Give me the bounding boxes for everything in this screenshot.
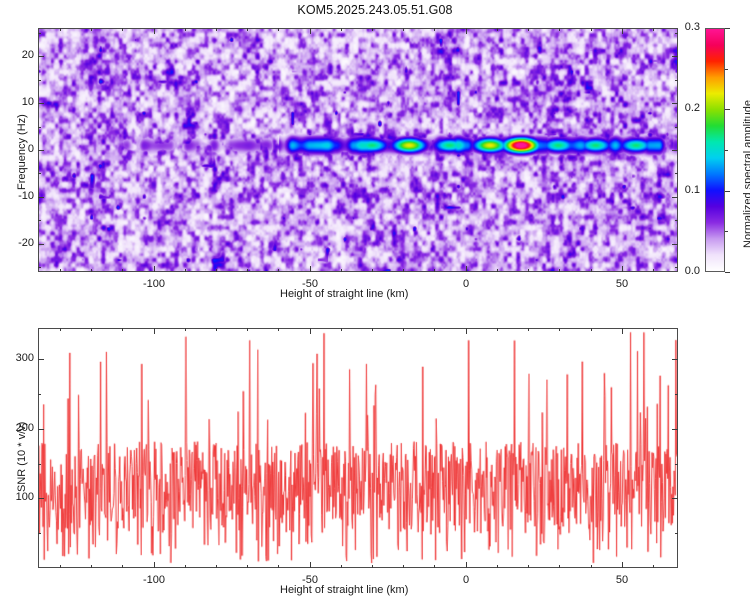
axis-tick: [403, 565, 404, 568]
axis-tick: [38, 359, 44, 360]
axis-tick: [38, 33, 41, 34]
axis-tick: [622, 266, 623, 272]
axis-tick: [154, 328, 155, 334]
axis-tick: [434, 328, 435, 331]
axis-tick: [559, 28, 560, 31]
spectrogram-y-axis-label: Frequency (Hz): [16, 114, 28, 190]
axis-tick: [622, 562, 623, 568]
axis-tick: [591, 565, 592, 568]
axis-tick: [122, 565, 123, 568]
axis-tick: [497, 565, 498, 568]
axis-tick: [38, 150, 44, 151]
axis-tick: [725, 109, 730, 110]
axis-tick: [341, 269, 342, 272]
axis-tick-label: 0.0: [685, 265, 700, 277]
axis-tick: [91, 269, 92, 272]
axis-tick: [528, 269, 529, 272]
snr-x-axis-label: Height of straight line (km): [280, 584, 408, 596]
axis-tick: [278, 269, 279, 272]
axis-tick: [247, 328, 248, 331]
axis-tick: [60, 328, 61, 331]
axis-tick: [675, 220, 678, 221]
snr-plot-area: [38, 328, 678, 568]
axis-tick: [247, 28, 248, 31]
axis-tick: [675, 33, 678, 34]
axis-tick: [310, 328, 311, 334]
axis-tick: [38, 220, 41, 221]
axis-tick: [403, 28, 404, 31]
axis-tick: [38, 197, 44, 198]
axis-tick: [278, 328, 279, 331]
axis-tick: [38, 173, 41, 174]
axis-tick: [185, 269, 186, 272]
axis-tick: [122, 28, 123, 31]
axis-tick: [185, 565, 186, 568]
axis-tick: [38, 498, 44, 499]
axis-tick: [38, 80, 41, 81]
axis-tick: [725, 69, 728, 70]
axis-tick: [725, 272, 730, 273]
axis-tick-label: 0.1: [685, 184, 700, 196]
axis-tick: [591, 328, 592, 331]
axis-tick: [38, 244, 44, 245]
axis-tick: [672, 56, 678, 57]
axis-tick: [310, 562, 311, 568]
axis-tick: [672, 150, 678, 151]
axis-tick-label: 0.2: [685, 102, 700, 114]
axis-tick: [341, 565, 342, 568]
axis-tick: [372, 269, 373, 272]
axis-tick: [653, 269, 654, 272]
axis-tick: [38, 533, 41, 534]
axis-tick: [403, 269, 404, 272]
axis-tick-label: 300: [16, 352, 34, 364]
axis-tick: [122, 269, 123, 272]
spectrogram-plot-area: [38, 28, 678, 272]
axis-tick: [38, 127, 41, 128]
colorbar-label: Normalized spectral amplitude: [742, 100, 750, 248]
axis-tick: [528, 28, 529, 31]
axis-tick: [672, 429, 678, 430]
axis-tick: [278, 565, 279, 568]
axis-tick-label: 50: [616, 574, 628, 586]
axis-tick: [91, 328, 92, 331]
axis-tick: [60, 565, 61, 568]
axis-tick: [559, 269, 560, 272]
axis-tick: [725, 28, 730, 29]
axis-tick: [653, 28, 654, 31]
axis-tick-label: 10: [22, 96, 34, 108]
axis-tick: [675, 464, 678, 465]
axis-tick: [122, 328, 123, 331]
axis-tick: [675, 127, 678, 128]
axis-tick: [559, 328, 560, 331]
axis-tick: [591, 28, 592, 31]
spectrogram-image: [39, 29, 677, 271]
axis-tick: [154, 28, 155, 34]
axis-tick: [38, 267, 41, 268]
spectrogram-x-axis-label: Height of straight line (km): [280, 288, 408, 300]
axis-tick: [372, 28, 373, 31]
axis-tick: [247, 565, 248, 568]
axis-tick: [278, 28, 279, 31]
axis-tick-label: -10: [18, 190, 34, 202]
axis-tick: [672, 244, 678, 245]
axis-tick: [528, 328, 529, 331]
axis-tick-label: 0: [463, 574, 469, 586]
axis-tick: [725, 231, 728, 232]
axis-tick: [591, 269, 592, 272]
axis-tick: [622, 28, 623, 34]
axis-tick: [38, 56, 44, 57]
axis-tick-label: 100: [16, 491, 34, 503]
axis-tick: [91, 565, 92, 568]
axis-tick: [154, 562, 155, 568]
axis-tick-label: 50: [616, 278, 628, 290]
axis-tick: [622, 328, 623, 334]
axis-tick-label: -20: [18, 237, 34, 249]
colorbar: [705, 28, 725, 272]
axis-tick: [372, 328, 373, 331]
axis-tick-label: 0: [463, 278, 469, 290]
axis-tick-label: 0: [28, 143, 34, 155]
axis-tick-label: -100: [143, 278, 165, 290]
axis-tick: [60, 269, 61, 272]
axis-tick: [216, 269, 217, 272]
axis-tick-label: 0.3: [685, 21, 700, 33]
axis-tick: [38, 464, 41, 465]
axis-tick: [341, 328, 342, 331]
axis-tick-label: 20: [22, 49, 34, 61]
page-title: KOM5.2025.243.05.51.G08: [0, 3, 750, 17]
axis-tick: [672, 498, 678, 499]
axis-tick: [497, 28, 498, 31]
axis-tick: [528, 565, 529, 568]
axis-tick: [434, 28, 435, 31]
axis-tick: [310, 266, 311, 272]
axis-tick: [247, 269, 248, 272]
snr-trace-line: [39, 329, 677, 567]
axis-tick: [372, 565, 373, 568]
axis-tick: [154, 266, 155, 272]
axis-tick: [653, 328, 654, 331]
axis-tick: [341, 28, 342, 31]
axis-tick: [38, 103, 44, 104]
axis-tick: [675, 173, 678, 174]
axis-tick: [466, 266, 467, 272]
axis-tick: [497, 269, 498, 272]
snr-y-axis-label: SNR (10 * v/v): [16, 422, 28, 492]
axis-tick: [466, 28, 467, 34]
axis-tick: [725, 191, 730, 192]
axis-tick: [60, 28, 61, 31]
axis-tick: [466, 328, 467, 334]
axis-tick: [216, 328, 217, 331]
axis-tick: [216, 565, 217, 568]
axis-tick: [185, 328, 186, 331]
axis-tick: [725, 150, 728, 151]
axis-tick: [91, 28, 92, 31]
axis-tick: [672, 197, 678, 198]
axis-tick: [675, 533, 678, 534]
axis-tick-label: -100: [143, 574, 165, 586]
axis-tick: [38, 429, 44, 430]
colorbar-gradient: [706, 29, 724, 271]
axis-tick: [675, 267, 678, 268]
axis-tick: [672, 359, 678, 360]
axis-tick: [434, 565, 435, 568]
axis-tick: [653, 565, 654, 568]
axis-tick: [310, 28, 311, 34]
axis-tick: [466, 562, 467, 568]
axis-tick: [672, 103, 678, 104]
axis-tick: [675, 80, 678, 81]
axis-tick: [675, 394, 678, 395]
axis-tick: [559, 565, 560, 568]
axis-tick: [185, 28, 186, 31]
axis-tick: [38, 394, 41, 395]
axis-tick: [216, 28, 217, 31]
axis-tick: [497, 328, 498, 331]
axis-tick: [434, 269, 435, 272]
axis-tick: [403, 328, 404, 331]
